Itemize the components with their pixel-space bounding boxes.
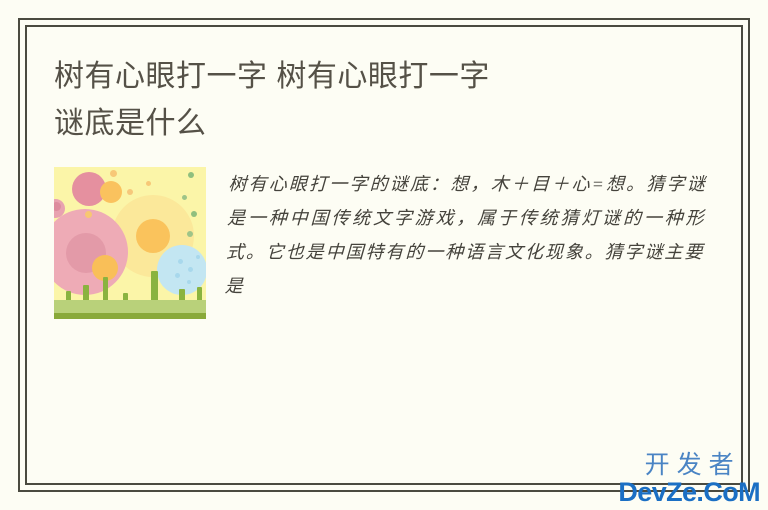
green-dot — [188, 172, 194, 178]
ground-line — [54, 313, 206, 319]
article-page: 树有心眼打一字 树有心眼打一字 谜底是什么 — [0, 0, 768, 510]
green-dot — [191, 211, 197, 217]
article-body-text: 树有心眼打一字的谜底：想，木＋目＋心=想。猜字谜是一种中国传统文字游戏，属于传统… — [224, 167, 741, 303]
green-dot — [187, 231, 193, 237]
flower-garden-illustration — [54, 167, 206, 319]
orange-circle-top — [100, 181, 122, 203]
orange-dot — [110, 170, 117, 177]
orange-dot — [85, 211, 92, 218]
page-title: 树有心眼打一字 树有心眼打一字 谜底是什么 — [27, 27, 741, 147]
yellow-flower-large-center — [136, 219, 170, 253]
green-dot — [182, 195, 187, 200]
watermark-domain-label: DevZe.CoM — [618, 479, 760, 506]
blue-flower-dot — [178, 259, 183, 264]
orange-dot — [127, 189, 133, 195]
grass-band — [54, 300, 206, 313]
blue-flower-dot — [196, 255, 200, 259]
blue-flower-dot — [175, 273, 180, 278]
blue-flower-dot — [187, 280, 191, 284]
article-body-area: 树有心眼打一字的谜底：想，木＋目＋心=想。猜字谜是一种中国传统文字游戏，属于传统… — [27, 167, 741, 303]
article-content: 树有心眼打一字 树有心眼打一字 谜底是什么 — [27, 27, 741, 483]
blue-flower-dot — [188, 267, 193, 272]
orange-dot — [146, 181, 151, 186]
